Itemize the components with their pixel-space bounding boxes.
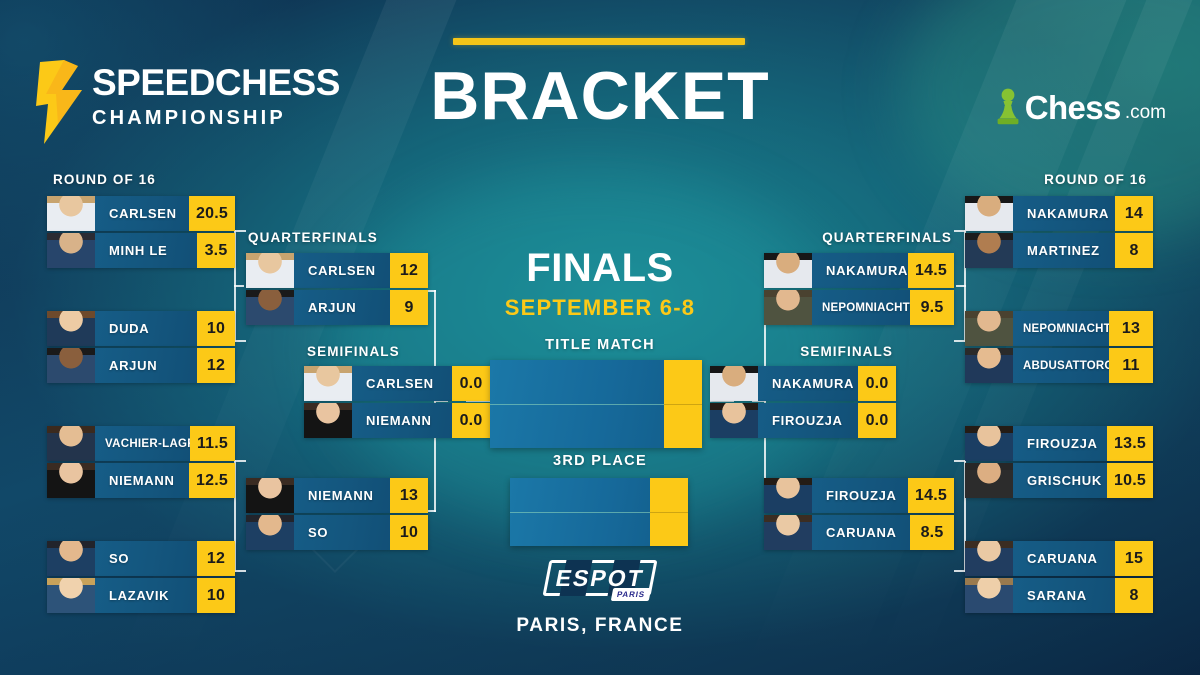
player-name: DUDA (95, 311, 197, 346)
player-score: 12 (390, 253, 428, 288)
player-score: 13 (390, 478, 428, 513)
match-right-sf-1[interactable]: NAKAMURA 0.0 FIROUZJA 0.0 (710, 366, 896, 438)
player-name: SO (294, 515, 390, 550)
match-final-title[interactable] (490, 360, 702, 448)
player-score: 11.5 (190, 426, 235, 461)
player-score: 10.5 (1107, 463, 1153, 498)
match-row[interactable]: ABDUSATTOROV 11 (965, 348, 1153, 383)
match-row[interactable]: CARLSEN 0.0 (304, 366, 490, 401)
player-name: CARUANA (812, 515, 910, 550)
match-row[interactable]: MINH LE 3.5 (47, 233, 235, 268)
player-avatar (47, 233, 95, 268)
player-name: MINH LE (95, 233, 197, 268)
match-row[interactable]: CARUANA 15 (965, 541, 1153, 576)
connector-l-r16a-stub2 (234, 340, 246, 342)
player-name: MARTINEZ (1013, 233, 1115, 268)
player-avatar (246, 290, 294, 325)
player-avatar (304, 366, 352, 401)
label-semifinals-left: SEMIFINALS (307, 344, 400, 359)
match-right-r16-3[interactable]: FIROUZJA 13.5 GRISCHUK 10.5 (965, 426, 1153, 498)
player-avatar (246, 515, 294, 550)
player-avatar (47, 196, 95, 231)
match-row[interactable]: DUDA 10 (47, 311, 235, 346)
match-right-r16-4[interactable]: CARUANA 15 SARANA 8 (965, 541, 1153, 613)
player-name: NAKAMURA (758, 366, 858, 401)
espot-sublabel: PARIS (611, 588, 651, 601)
player-name: NAKAMURA (1013, 196, 1115, 231)
logo-speedchess-text: SPEEDCHESS (92, 64, 340, 101)
player-score: 0.0 (452, 366, 490, 401)
player-avatar (764, 478, 812, 513)
player-avatar (47, 541, 95, 576)
match-right-qf-2[interactable]: FIROUZJA 14.5 CARUANA 8.5 (764, 478, 954, 550)
player-score: 12 (197, 348, 235, 383)
connector-l-r16a-stub1 (234, 230, 246, 232)
title-accent-bar (453, 38, 745, 45)
player-name: NEPOMNIACHTCHI (812, 290, 910, 325)
player-score: 11 (1109, 348, 1153, 383)
match-row[interactable]: CARLSEN 12 (246, 253, 428, 288)
player-score: 10 (197, 578, 235, 613)
player-avatar (710, 366, 758, 401)
player-score: 12.5 (189, 463, 235, 498)
match-row[interactable]: NAKAMURA 14 (965, 196, 1153, 231)
player-score: 9 (390, 290, 428, 325)
label-title-match: TITLE MATCH (480, 337, 720, 353)
player-avatar (764, 253, 812, 288)
match-row[interactable]: GRISCHUK 10.5 (965, 463, 1153, 498)
player-score: 14 (1115, 196, 1153, 231)
player-name: NIEMANN (294, 478, 390, 513)
match-row[interactable]: SARANA 8 (965, 578, 1153, 613)
match-right-r16-2[interactable]: NEPOMNIACHTCHI 13 ABDUSATTOROV 11 (965, 311, 1153, 383)
match-row[interactable]: NAKAMURA 0.0 (710, 366, 896, 401)
player-score: 9.5 (910, 290, 954, 325)
label-quarterfinals-left: QUARTERFINALS (248, 230, 378, 245)
player-score: 14.5 (908, 478, 954, 513)
player-score: 8.5 (910, 515, 954, 550)
finals-date: SEPTEMBER 6-8 (480, 297, 720, 319)
match-row[interactable]: NEPOMNIACHTCHI 9.5 (764, 290, 954, 325)
player-score: 13.5 (1107, 426, 1153, 461)
player-name: VACHIER-LAGRAVE (95, 426, 190, 461)
player-avatar (965, 463, 1013, 498)
match-left-r16-2[interactable]: DUDA 10 ARJUN 12 (47, 311, 235, 383)
match-row[interactable]: MARTINEZ 8 (965, 233, 1153, 268)
match-row[interactable]: NIEMANN 0.0 (304, 403, 490, 438)
match-row[interactable]: NIEMANN 13 (246, 478, 428, 513)
player-score: 13 (1109, 311, 1153, 346)
player-name: ARJUN (294, 290, 390, 325)
chesscom-tld: .com (1125, 103, 1166, 122)
player-avatar (47, 463, 95, 498)
player-avatar (47, 348, 95, 383)
match-third-place[interactable] (510, 478, 688, 546)
third-place-score-box (650, 478, 688, 546)
player-score: 14.5 (908, 253, 954, 288)
pawn-icon (995, 87, 1021, 127)
label-third-place: 3RD PLACE (480, 453, 720, 469)
player-avatar (304, 403, 352, 438)
venue-city: PARIS, FRANCE (0, 615, 1200, 637)
player-name: ABDUSATTOROV (1013, 348, 1109, 383)
player-avatar (47, 578, 95, 613)
final-score-box (664, 360, 702, 448)
connector-r-r16a-out (956, 285, 966, 287)
espot-paris-logo: ESPOT PARIS (546, 560, 654, 596)
match-right-qf-1[interactable]: NAKAMURA 14.5 NEPOMNIACHTCHI 9.5 (764, 253, 954, 325)
player-name: ARJUN (95, 348, 197, 383)
match-left-r16-4[interactable]: SO 12 LAZAVIK 10 (47, 541, 235, 613)
label-round-of-16-left: ROUND OF 16 (53, 172, 156, 187)
finals-title: FINALS (480, 248, 720, 288)
match-row[interactable]: SO 10 (246, 515, 428, 550)
player-name: NAKAMURA (812, 253, 908, 288)
player-name: LAZAVIK (95, 578, 197, 613)
player-avatar (965, 196, 1013, 231)
player-name: SO (95, 541, 197, 576)
player-name: NIEMANN (352, 403, 452, 438)
match-left-r16-3[interactable]: VACHIER-LAGRAVE 11.5 NIEMANN 12.5 (47, 426, 235, 498)
player-avatar (764, 515, 812, 550)
match-row[interactable]: NAKAMURA 14.5 (764, 253, 954, 288)
player-score: 0.0 (858, 366, 896, 401)
connector-l-r16a-out (234, 285, 244, 287)
match-row[interactable]: NEPOMNIACHTCHI 13 (965, 311, 1153, 346)
player-score: 3.5 (197, 233, 235, 268)
label-semifinals-right: SEMIFINALS (800, 344, 893, 359)
player-avatar (246, 478, 294, 513)
player-avatar (965, 348, 1013, 383)
player-name: CARLSEN (352, 366, 452, 401)
player-name: NEPOMNIACHTCHI (1013, 311, 1109, 346)
match-row[interactable]: CARLSEN 20.5 (47, 196, 235, 231)
player-avatar (710, 403, 758, 438)
player-avatar (965, 426, 1013, 461)
player-score: 15 (1115, 541, 1153, 576)
finals-heading-group: FINALS SEPTEMBER 6-8 (480, 248, 720, 319)
match-row[interactable]: ARJUN 9 (246, 290, 428, 325)
chesscom-wordmark: Chess (1025, 91, 1121, 124)
match-right-r16-1[interactable]: NAKAMURA 14 MARTINEZ 8 (965, 196, 1153, 268)
player-score: 10 (197, 311, 235, 346)
player-score: 0.0 (452, 403, 490, 438)
player-avatar (965, 233, 1013, 268)
player-name: CARUANA (1013, 541, 1115, 576)
player-name: CARLSEN (294, 253, 390, 288)
bracket-graphic: BRACKET SPEEDCHESS CHAMPIONSHIP Chess .c… (0, 0, 1200, 675)
player-avatar (764, 290, 812, 325)
label-quarterfinals-right: QUARTERFINALS (822, 230, 952, 245)
match-left-r16-1[interactable]: CARLSEN 20.5 MINH LE 3.5 (47, 196, 235, 268)
player-score: 20.5 (189, 196, 235, 231)
player-name: NIEMANN (95, 463, 189, 498)
player-name: GRISCHUK (1013, 463, 1107, 498)
logo-championship-text: CHAMPIONSHIP (92, 108, 340, 128)
player-avatar (47, 311, 95, 346)
chesscom-logo: Chess .com (995, 84, 1166, 130)
player-score: 8 (1115, 233, 1153, 268)
player-name: FIROUZJA (758, 403, 858, 438)
match-row[interactable]: SO 12 (47, 541, 235, 576)
match-row[interactable]: CARUANA 8.5 (764, 515, 954, 550)
player-avatar (965, 578, 1013, 613)
player-avatar (965, 311, 1013, 346)
player-name: SARANA (1013, 578, 1115, 613)
player-score: 12 (197, 541, 235, 576)
player-avatar (246, 253, 294, 288)
player-score: 10 (390, 515, 428, 550)
match-left-qf-2[interactable]: NIEMANN 13 SO 10 (246, 478, 428, 550)
player-score: 0.0 (858, 403, 896, 438)
match-row[interactable]: FIROUZJA 0.0 (710, 403, 896, 438)
match-row[interactable]: NIEMANN 12.5 (47, 463, 235, 498)
label-round-of-16-right: ROUND OF 16 (1044, 172, 1147, 187)
match-left-qf-1[interactable]: CARLSEN 12 ARJUN 9 (246, 253, 428, 325)
speed-chess-championship-logo: SPEEDCHESS CHAMPIONSHIP (34, 58, 304, 144)
match-row[interactable]: ARJUN 12 (47, 348, 235, 383)
match-row[interactable]: LAZAVIK 10 (47, 578, 235, 613)
match-row[interactable]: VACHIER-LAGRAVE 11.5 (47, 426, 235, 461)
connector-l-r16b-stub2 (234, 570, 246, 572)
player-avatar (965, 541, 1013, 576)
player-name: FIROUZJA (812, 478, 908, 513)
lightning-bolt-icon (34, 60, 86, 144)
player-name: FIROUZJA (1013, 426, 1107, 461)
match-row[interactable]: FIROUZJA 13.5 (965, 426, 1153, 461)
connector-l-r16b-stub1 (234, 460, 246, 462)
player-score: 8 (1115, 578, 1153, 613)
player-avatar (47, 426, 95, 461)
match-left-sf-1[interactable]: CARLSEN 0.0 NIEMANN 0.0 (304, 366, 490, 438)
match-row[interactable]: FIROUZJA 14.5 (764, 478, 954, 513)
player-name: CARLSEN (95, 196, 189, 231)
